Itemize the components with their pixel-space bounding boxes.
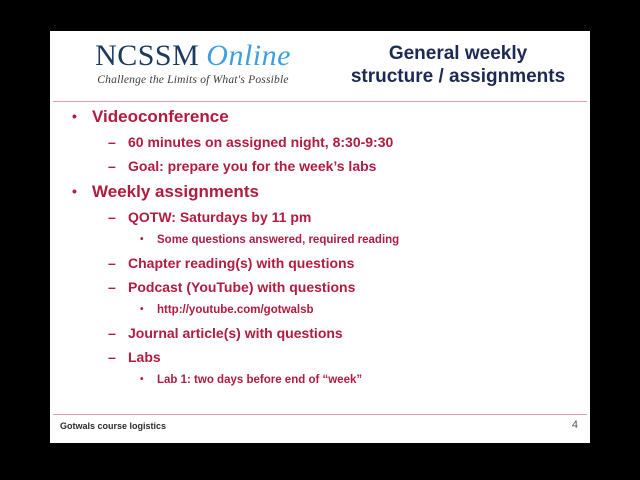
slide-number: 4 bbox=[572, 419, 578, 431]
bullet-text: Labs bbox=[128, 345, 161, 369]
bullet-item-level-2: –Goal: prepare you for the week’s labs bbox=[108, 154, 590, 178]
bullet-list: •Videoconference–60 minutes on assigned … bbox=[50, 103, 590, 391]
dot-bullet-icon: • bbox=[140, 229, 144, 251]
bullet-text: Journal article(s) with questions bbox=[128, 321, 343, 345]
dash-bullet-icon: – bbox=[108, 251, 116, 275]
logo-online-text: Online bbox=[206, 39, 291, 72]
presentation-slide: NCSSMOnline Challenge the Limits of What… bbox=[50, 31, 590, 443]
bullet-item-level-3: •Some questions answered, required readi… bbox=[140, 229, 590, 251]
bullet-item-level-2: –Podcast (YouTube) with questions bbox=[108, 275, 590, 299]
page-title-line-2: structure / assignments bbox=[332, 65, 584, 88]
bullet-text: Chapter reading(s) with questions bbox=[128, 251, 354, 275]
bullet-item-level-2: –60 minutes on assigned night, 8:30-9:30 bbox=[108, 130, 590, 154]
dash-bullet-icon: – bbox=[108, 321, 116, 345]
bullet-item-level-3: •http://youtube.com/gotwalsb bbox=[140, 299, 590, 321]
dot-bullet-icon: • bbox=[140, 299, 144, 321]
bullet-item-level-1: •Videoconference bbox=[72, 103, 590, 130]
logo-ncssm-text: NCSSM bbox=[95, 39, 199, 72]
dash-bullet-icon: – bbox=[108, 205, 116, 229]
logo-wordmark: NCSSMOnline bbox=[68, 39, 318, 73]
bullet-item-level-1: •Weekly assignments bbox=[72, 178, 590, 205]
dash-bullet-icon: – bbox=[108, 345, 116, 369]
dot-bullet-icon: • bbox=[72, 178, 77, 205]
slide-footer: Gotwals course logistics 4 bbox=[50, 417, 590, 441]
logo-tagline: Challenge the Limits of What's Possible bbox=[68, 74, 318, 86]
dot-bullet-icon: • bbox=[140, 369, 144, 391]
dash-bullet-icon: – bbox=[108, 275, 116, 299]
dash-bullet-icon: – bbox=[108, 130, 116, 154]
dot-bullet-icon: • bbox=[72, 103, 77, 130]
bullet-item-level-2: –Journal article(s) with questions bbox=[108, 321, 590, 345]
slide-header: NCSSMOnline Challenge the Limits of What… bbox=[50, 31, 590, 102]
bullet-text: Goal: prepare you for the week’s labs bbox=[128, 154, 376, 178]
bullet-text: Some questions answered, required readin… bbox=[157, 229, 399, 251]
bullet-text: Podcast (YouTube) with questions bbox=[128, 275, 355, 299]
bullet-item-level-2: –Labs bbox=[108, 345, 590, 369]
dash-bullet-icon: – bbox=[108, 154, 116, 178]
page-title: General weekly structure / assignments bbox=[332, 42, 584, 88]
bullet-text: QOTW: Saturdays by 11 pm bbox=[128, 205, 311, 229]
footer-divider bbox=[53, 414, 587, 415]
page-title-line-1: General weekly bbox=[332, 42, 584, 65]
bullet-item-level-3: •Lab 1: two days before end of “week” bbox=[140, 369, 590, 391]
header-divider bbox=[53, 101, 587, 102]
bullet-text: Videoconference bbox=[92, 103, 229, 130]
bullet-text: Lab 1: two days before end of “week” bbox=[157, 369, 362, 391]
video-letterbox-stage: NCSSMOnline Challenge the Limits of What… bbox=[0, 0, 640, 480]
bullet-text: Weekly assignments bbox=[92, 178, 259, 205]
bullet-text: 60 minutes on assigned night, 8:30-9:30 bbox=[128, 130, 393, 154]
ncssm-online-logo: NCSSMOnline Challenge the Limits of What… bbox=[68, 39, 318, 86]
bullet-text: http://youtube.com/gotwalsb bbox=[157, 299, 314, 321]
bullet-item-level-2: –Chapter reading(s) with questions bbox=[108, 251, 590, 275]
footer-label: Gotwals course logistics bbox=[60, 421, 166, 431]
bullet-item-level-2: –QOTW: Saturdays by 11 pm bbox=[108, 205, 590, 229]
slide-body: •Videoconference–60 minutes on assigned … bbox=[50, 103, 590, 408]
